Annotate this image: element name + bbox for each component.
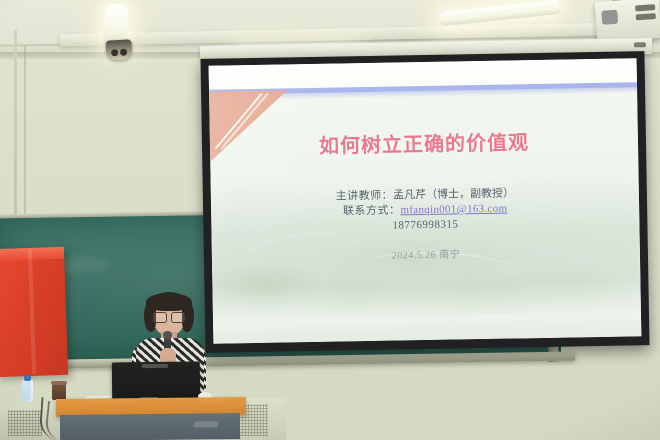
- presenter-label: 主讲教师：: [336, 190, 394, 203]
- security-camera-icon: [105, 39, 132, 60]
- monitor-brand-logo: [142, 364, 168, 368]
- podium-body: [60, 413, 240, 440]
- desktop-monitor: [112, 362, 200, 403]
- slide-subtitle-block: 主讲教师：孟凡芹（博士，副教授） 联系方式：mfanqin001@163.com…: [211, 184, 640, 236]
- classroom-photo: 如何树立正确的价值观 主讲教师：孟凡芹（博士，副教授） 联系方式：mfanqin…: [0, 0, 660, 440]
- contact-label: 联系方式：: [343, 204, 401, 217]
- slide-title: 如何树立正确的价值观: [210, 124, 638, 160]
- presentation-slide: 如何树立正确的价值观 主讲教师：孟凡芹（博士，副教授） 联系方式：mfanqin…: [209, 58, 642, 343]
- water-bottle: [22, 380, 33, 402]
- email-link[interactable]: mfanqin001@163.com: [400, 203, 507, 217]
- presenter-name: 孟凡芹（博士，副教授）: [393, 187, 514, 201]
- glasses-icon: [153, 312, 185, 321]
- projection-screen-surface: 如何树立正确的价值观 主讲教师：孟凡芹（博士，副教授） 联系方式：mfanqin…: [209, 58, 642, 343]
- projection-screen: 如何树立正确的价值观 主讲教师：孟凡芹（博士，副教授） 联系方式：mfanqin…: [200, 51, 649, 353]
